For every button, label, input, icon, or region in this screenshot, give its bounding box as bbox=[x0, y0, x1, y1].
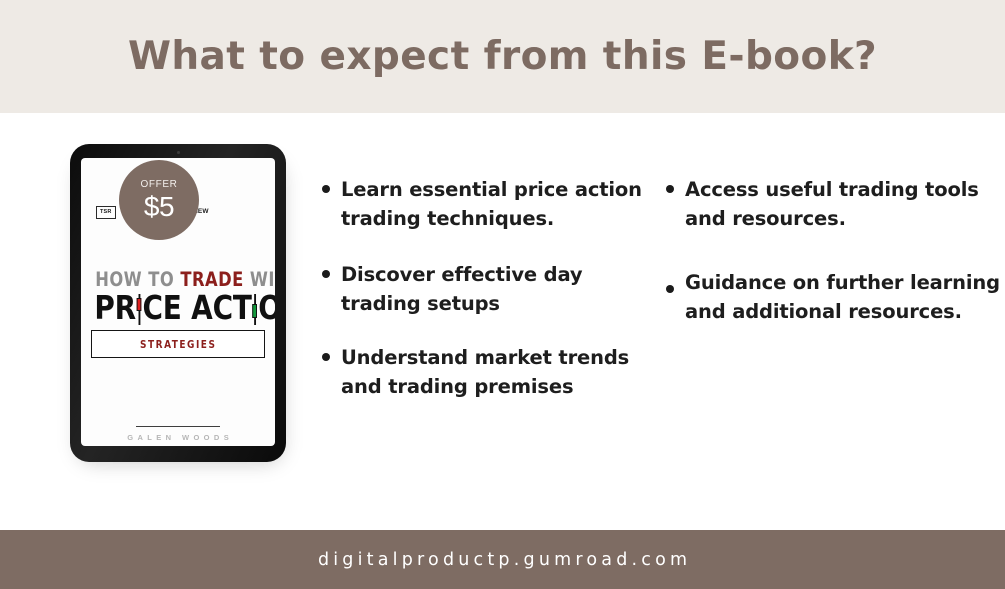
title-pr: PR bbox=[94, 288, 136, 327]
tsr-logo-mark: TSR bbox=[96, 206, 116, 219]
header-band: What to expect from this E-book? bbox=[0, 0, 1005, 113]
ebook-tablet-mockup: TSR TRADING SETUPS REVIEW HOW TO TRADE W… bbox=[70, 144, 286, 462]
footer-store-url[interactable]: digitalproductp.gumroad.com bbox=[314, 550, 692, 570]
list-item-label: Understand market trends and trading pre… bbox=[341, 343, 652, 401]
book-title-block: HOW TO TRADE WITH PRCE ACTON bbox=[89, 270, 267, 325]
footer-bar: digitalproductp.gumroad.com bbox=[0, 530, 1005, 589]
title-ce-act: CE ACT bbox=[142, 288, 251, 327]
bullet-dot-icon bbox=[666, 185, 674, 193]
offer-badge: OFFER $5 bbox=[119, 160, 199, 240]
bullet-dot-icon bbox=[322, 353, 330, 361]
book-subtitle-text: STRATEGIES bbox=[140, 340, 216, 351]
list-item-label: Access useful trading tools and resource… bbox=[685, 175, 1001, 233]
book-author-name: GALEN WOODS bbox=[81, 434, 275, 442]
list-item: Discover effective day trading setups bbox=[322, 260, 652, 318]
main-content-area: TSR TRADING SETUPS REVIEW HOW TO TRADE W… bbox=[0, 113, 1005, 530]
candlestick-red-icon bbox=[136, 294, 143, 325]
page-title: What to expect from this E-book? bbox=[128, 34, 877, 79]
bullet-dot-icon bbox=[666, 285, 674, 293]
bullet-dot-icon bbox=[322, 270, 330, 278]
book-title-line-2: PRCE ACTON bbox=[94, 291, 261, 325]
list-item: Guidance on further learning and additio… bbox=[666, 268, 1001, 326]
offer-badge-price: $5 bbox=[144, 193, 174, 221]
list-item: Understand market trends and trading pre… bbox=[322, 343, 652, 401]
candlestick-green-icon bbox=[252, 294, 259, 325]
list-item: Learn essential price action trading tec… bbox=[322, 175, 652, 233]
list-item: Access useful trading tools and resource… bbox=[666, 175, 1001, 233]
book-subtitle-box: STRATEGIES bbox=[91, 330, 265, 358]
bullet-dot-icon bbox=[322, 185, 330, 193]
tablet-camera-icon bbox=[177, 151, 180, 154]
offer-badge-label: OFFER bbox=[141, 180, 178, 190]
title-on: ON bbox=[258, 288, 275, 327]
author-divider bbox=[136, 426, 220, 427]
list-item-label: Learn essential price action trading tec… bbox=[341, 175, 652, 233]
list-item-label: Discover effective day trading setups bbox=[341, 260, 652, 318]
list-item-label: Guidance on further learning and additio… bbox=[685, 268, 1001, 326]
